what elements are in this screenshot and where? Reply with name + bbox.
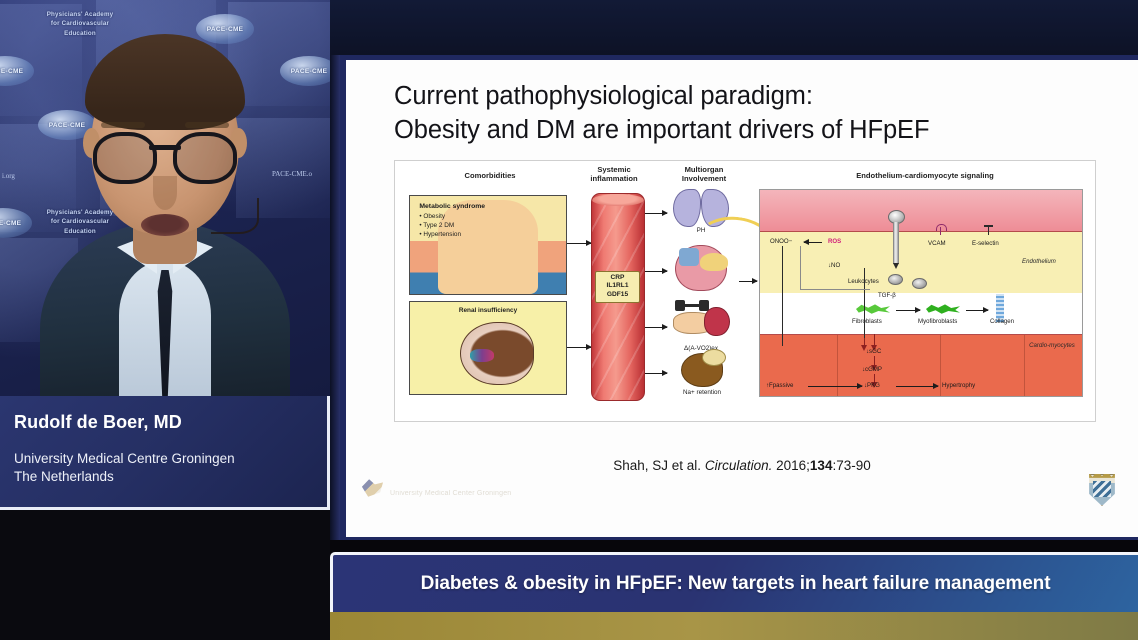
- arrow-organs-to-signaling: [739, 281, 757, 282]
- comorbidity-metabolic-syndrome-box: Metabolic syndrome • Obesity • Type 2 DM…: [409, 195, 567, 295]
- arrow-comorbidity-to-vessel: [567, 243, 591, 244]
- endothelium-cardiomyocyte-panel: ONOO− ROS ↓NO VCAM E-selectin Endotheliu…: [759, 189, 1083, 397]
- slide-citation: Shah, SJ et al. Circulation. 2016;134:73…: [346, 458, 1138, 473]
- comorbidity-item-type2dm: • Type 2 DM: [419, 221, 550, 230]
- slide-title-line2: Obesity and DM are important drivers of …: [394, 114, 1094, 148]
- pace-cme-logo: PACE-CME: [196, 14, 254, 44]
- speaker-affiliation-line1: University Medical Centre Groningen: [14, 450, 327, 468]
- arrow-pkg-to-hypertrophy: [896, 386, 938, 387]
- arrow-ros-to-onoo: [804, 242, 822, 243]
- label-endothelium: Endothelium: [1022, 258, 1056, 265]
- biomarker-crp: CRP: [596, 274, 639, 282]
- transcellular-signal-arrow: [893, 222, 899, 264]
- pace-cme-logo-label: PACE-CME: [49, 122, 86, 129]
- comorbidity-item-hypertension: • Hypertension: [419, 230, 550, 239]
- figure-header-multiorgan-involvement: Multiorgan Involvement: [663, 165, 745, 184]
- glasses-lens-right: [173, 132, 237, 184]
- metabolic-syndrome-title: Metabolic syndrome: [419, 203, 485, 210]
- renal-insufficiency-title: Renal insufficiency: [410, 307, 566, 314]
- label-cardiomyocytes: Cardio-myocytes: [1028, 342, 1076, 349]
- cardiomyocyte-seam: [1024, 335, 1025, 397]
- signal-line-branch: [800, 246, 801, 290]
- speaker-eyebrow-left: [101, 122, 145, 128]
- label-myofibroblasts: Myofibroblasts: [918, 318, 957, 325]
- arm-illustration: [671, 299, 731, 343]
- pathophysiology-figure: Comorbidities Systemic inflammation Mult…: [394, 160, 1096, 422]
- signal-hypertrophy: Hypertrophy: [942, 382, 975, 389]
- signal-line-no: [864, 268, 865, 338]
- arm-muscle: [704, 307, 730, 336]
- figure-header-systemic-inflammation: Systemic inflammation: [573, 165, 655, 184]
- speaker-nose: [153, 176, 177, 210]
- signal-onoo: ONOO−: [770, 238, 792, 245]
- speaker-video[interactable]: Physicians' Academy for Cardiovascular E…: [0, 0, 330, 396]
- arrow-onoo-to-sgc: [874, 334, 875, 346]
- organ-kidney: Na+ retention: [681, 353, 723, 387]
- figure-header-comorbidities: Comorbidities: [415, 171, 565, 180]
- metabolic-syndrome-text: Metabolic syndrome • Obesity • Type 2 DM…: [419, 202, 550, 239]
- speaker-name: Rudolf de Boer, MD: [14, 412, 327, 433]
- presentation-slide[interactable]: Current pathophysiological paradigm: Obe…: [346, 60, 1138, 537]
- biomarker-gdf15: GDF15: [596, 291, 639, 299]
- signal-vcam: VCAM: [928, 240, 946, 247]
- adrenal-gland: [702, 349, 726, 366]
- backdrop-url: i.org: [2, 172, 15, 180]
- slide-title: Current pathophysiological paradigm: Obe…: [394, 80, 1094, 147]
- signal-cgmp: ↓cGMP: [862, 366, 882, 373]
- slide-left-rail: [330, 55, 340, 540]
- signal-fpassive: ↑Fpassive: [766, 382, 793, 389]
- label-collagen: Collagen: [990, 318, 1014, 325]
- signal-eselectin: E-selectin: [972, 240, 999, 247]
- pace-cme-logo: PACE-CME: [280, 56, 330, 86]
- program-title: Diabetes & obesity in HFpEF: New targets…: [421, 573, 1051, 595]
- e-selectin-receptor-icon: [984, 224, 993, 235]
- label-fibroblasts: Fibroblasts: [852, 318, 882, 325]
- backdrop-url: PACE-CME.o: [272, 170, 312, 178]
- pace-cme-logo-label: PACE-CME: [0, 220, 21, 227]
- organ-label-na-retention: Na+ retention: [670, 389, 734, 396]
- comorbidity-item-obesity: • Obesity: [419, 212, 550, 221]
- figure-header-endothelium-signaling: Endothelium-cardiomyocyte signaling: [765, 171, 1085, 180]
- citation-pages: :73-90: [832, 458, 870, 473]
- program-title-banner: Diabetes & obesity in HFpEF: New targets…: [330, 552, 1138, 612]
- signal-line-branch-h: [800, 289, 870, 290]
- renal-insufficiency-box: Renal insufficiency: [409, 301, 567, 395]
- leukocyte-cell: [888, 274, 903, 285]
- gold-accent-bar: [330, 612, 1138, 640]
- speaker-eyebrow-right: [185, 122, 229, 128]
- signal-tgfb: TGF-β: [878, 292, 896, 299]
- lung-left: [673, 189, 701, 227]
- backdrop-tagline: Physicians' Academy for Cardiovascular E…: [42, 10, 118, 38]
- interstitial-space: [760, 293, 1082, 334]
- dumbbell-icon: [675, 300, 710, 311]
- pace-cme-logo-label: PACE-CME: [291, 68, 328, 75]
- signal-line-onoo: [782, 246, 783, 346]
- cardiomyocyte-seam: [837, 335, 838, 397]
- signal-ros: ROS: [828, 238, 841, 245]
- arrow-pkg-to-fpassive: [808, 386, 862, 387]
- screen-root: Physicians' Academy for Cardiovascular E…: [0, 0, 1138, 640]
- arrow-myofibroblast-to-collagen: [966, 310, 988, 311]
- speaker-headset-mic: [211, 198, 259, 234]
- arrow-renal-to-vessel: [567, 347, 591, 348]
- biomarker-il1rl1: IL1RL1: [596, 282, 639, 290]
- top-background: [330, 0, 1138, 55]
- vessel-lumen-top: [592, 194, 644, 206]
- citation-author: Shah, SJ et al.: [613, 458, 701, 473]
- speaker-nameplate: Rudolf de Boer, MD University Medical Ce…: [0, 396, 330, 510]
- arrow-fibroblast-to-myofibroblast: [896, 310, 920, 311]
- speaker-glasses: [92, 132, 238, 176]
- arrow-vessel-to-muscle: [645, 327, 667, 328]
- signal-no: ↓NO: [828, 262, 840, 269]
- citation-journal: Circulation.: [705, 458, 773, 473]
- citation-year: 2016;: [776, 458, 810, 473]
- pace-cme-logo-label: PACE-CME: [207, 26, 244, 33]
- speaker-mouth: [141, 214, 189, 236]
- vcam-receptor-icon: [936, 224, 945, 235]
- kidney-hilum: [470, 349, 494, 362]
- organ-skeletal-muscle: Δ(A-VO2)ex: [671, 299, 731, 343]
- arrow-vessel-to-heart: [645, 271, 667, 272]
- arrow-vessel-to-lungs: [645, 213, 667, 214]
- speaker-affiliation: University Medical Centre Groningen The …: [14, 450, 327, 486]
- citation-volume: 134: [810, 458, 833, 473]
- leukocyte-cell: [912, 278, 927, 289]
- glasses-lens-left: [93, 132, 157, 184]
- umcg-logo: [360, 478, 384, 498]
- signal-pkg: ↓PKG: [864, 382, 880, 389]
- inflammation-biomarkers-box: CRP IL1RL1 GDF15: [595, 271, 640, 303]
- vascular-lumen: [760, 190, 1082, 231]
- backdrop-tagline: Physicians' Academy for Cardiovascular E…: [42, 208, 118, 236]
- arrow-vessel-to-kidney: [645, 373, 667, 374]
- university-crest-logo: [1088, 474, 1116, 506]
- bottom-left-background: [0, 510, 330, 640]
- kidney-illustration: [460, 322, 534, 385]
- umcg-logo-text: University Medical Center Groningen: [390, 490, 511, 497]
- pace-cme-logo-label: PACE-CME: [0, 68, 23, 75]
- speaker-affiliation-line2: The Netherlands: [14, 468, 327, 486]
- slide-title-line1: Current pathophysiological paradigm:: [394, 80, 1094, 114]
- arrow-sgc-to-cgmp: [874, 356, 875, 366]
- signal-sgc: ↓sGC: [866, 348, 881, 355]
